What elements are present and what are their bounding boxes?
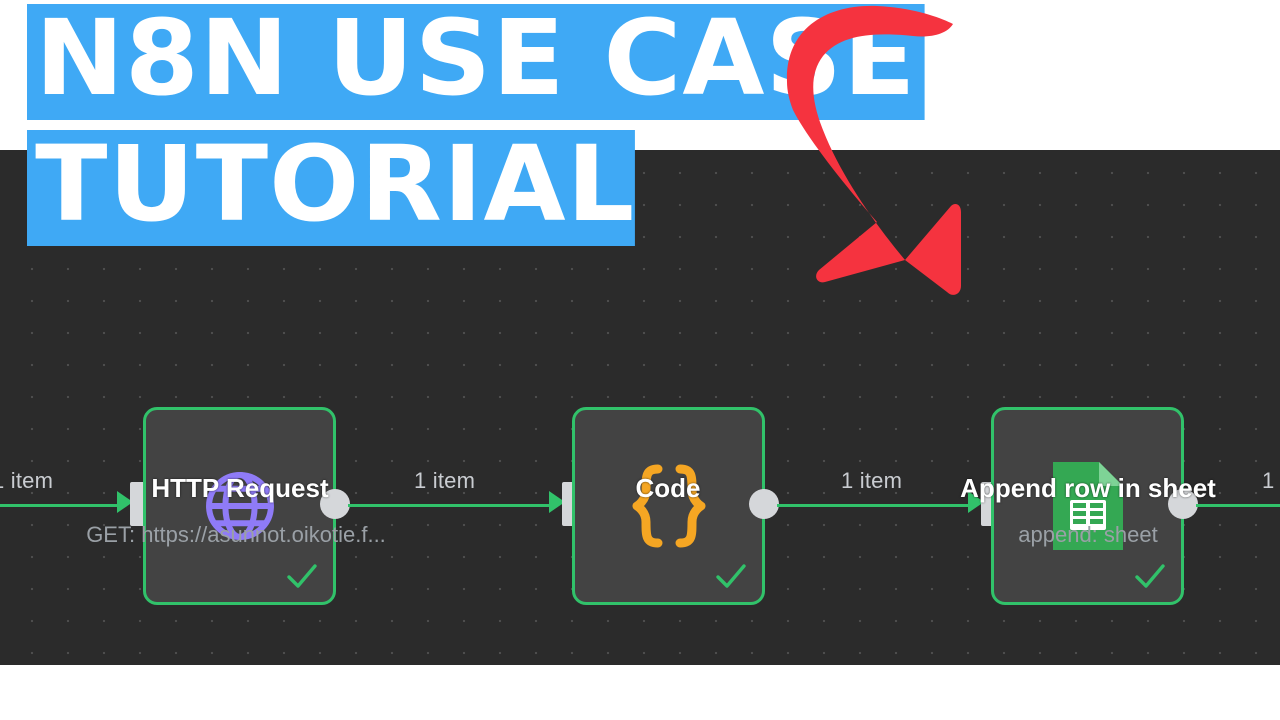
node-subtitle-http-request: GET: https://asunnot.oikotie.f... xyxy=(26,522,446,548)
screenshot-root: 1 item xyxy=(0,0,1280,720)
connection-line-incoming[interactable] xyxy=(0,504,125,507)
status-success-check-code xyxy=(714,560,748,594)
node-code[interactable] xyxy=(572,407,765,605)
node-subtitle-append-row: append: sheet xyxy=(878,522,1280,548)
node-title-append-row: Append row in sheet xyxy=(878,473,1280,504)
connection-line-http-to-code[interactable] xyxy=(348,504,556,507)
status-success-check-sheets xyxy=(1133,560,1167,594)
title-line-2: TUTORIAL xyxy=(27,130,635,246)
connection-line-outgoing[interactable] xyxy=(1196,504,1280,507)
node-append-row-in-sheet[interactable] xyxy=(991,407,1184,605)
status-success-check-http xyxy=(285,560,319,594)
node-title-http-request: HTTP Request xyxy=(30,473,450,504)
connection-line-code-to-sheets[interactable] xyxy=(777,504,975,507)
annotation-arrow xyxy=(755,0,1045,310)
node-title-code: Code xyxy=(458,473,878,504)
node-http-request[interactable] xyxy=(143,407,336,605)
